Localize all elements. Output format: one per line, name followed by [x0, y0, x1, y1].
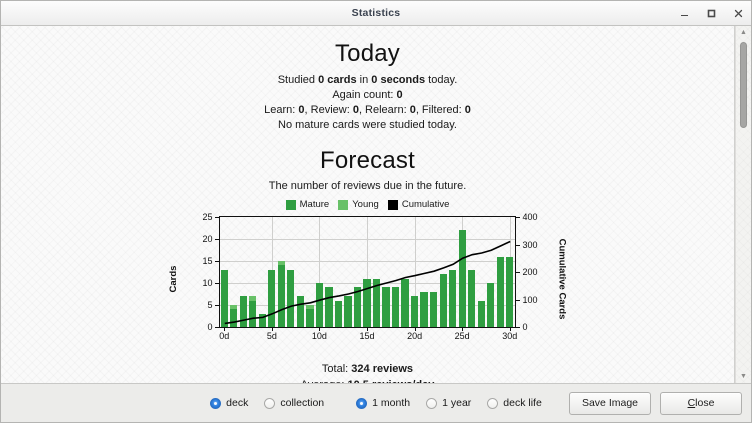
radio-dot-icon[interactable]: [356, 398, 367, 409]
cumulative-polyline: [224, 241, 509, 323]
y-tick-label: 0: [168, 322, 213, 332]
forecast-totals: Total: 324 reviews Average: 10.5 reviews…: [1, 361, 734, 383]
x-tick-mark: [510, 327, 511, 331]
legend-label: Cumulative: [402, 199, 450, 210]
total-label: Total:: [322, 363, 351, 375]
radio-dot-icon[interactable]: [264, 398, 275, 409]
radio-label: deck: [226, 397, 248, 409]
save-image-button[interactable]: Save Image: [569, 392, 651, 415]
today-mature-note: No mature cards were studied today.: [1, 118, 734, 133]
today-learn-label: Learn:: [264, 104, 298, 116]
legend-label: Young: [352, 199, 379, 210]
minimize-button[interactable]: [678, 7, 691, 20]
statistics-window: Statistics Today Studied 0 cards in 0 se…: [0, 0, 752, 423]
bottom-toolbar: deckcollection 1 month1 yeardeck life Sa…: [1, 383, 751, 422]
window-title: Statistics: [352, 7, 401, 19]
close-dialog-button[interactable]: Close: [660, 392, 742, 415]
radio-scope-deck[interactable]: deck: [210, 397, 248, 409]
x-tick-mark: [415, 327, 416, 331]
y2-tick-label: 400: [518, 212, 552, 222]
legend-swatch-young-icon: [338, 200, 348, 210]
legend-item-cumulative: Cumulative: [388, 199, 450, 210]
y-tick-mark: [215, 217, 219, 218]
total-value: 324 reviews: [351, 363, 413, 375]
radio-range-1-year[interactable]: 1 year: [426, 397, 471, 409]
range-radio-group: 1 month1 yeardeck life: [356, 397, 542, 409]
y2-tick-label: 200: [518, 267, 552, 277]
today-studied-prefix: Studied: [278, 74, 318, 86]
y-tick-mark: [215, 327, 219, 328]
y-tick-label: 25: [168, 212, 213, 222]
radio-dot-icon[interactable]: [487, 398, 498, 409]
y2-tick-mark: [516, 245, 520, 246]
today-again-value: 0: [397, 89, 403, 101]
y2-tick-mark: [516, 217, 520, 218]
y-tick-mark: [215, 261, 219, 262]
close-button[interactable]: [732, 7, 745, 20]
y-tick-label: 10: [168, 278, 213, 288]
y2-axis-title: Cumulative Cards: [557, 239, 568, 320]
today-filtered-label: , Filtered:: [416, 104, 465, 116]
scope-radio-group: deckcollection: [210, 397, 324, 409]
close-rest: lose: [695, 397, 714, 409]
x-tick-mark: [367, 327, 368, 331]
today-filtered-value: 0: [465, 104, 471, 116]
radio-label: deck life: [503, 397, 542, 409]
action-buttons: Save Image Close: [569, 392, 742, 415]
y2-tick-mark: [516, 300, 520, 301]
x-tick-label: 5d: [267, 331, 277, 341]
today-section: Today Studied 0 cards in 0 seconds today…: [1, 40, 734, 133]
today-studied-line: Studied 0 cards in 0 seconds today.: [1, 73, 734, 88]
scroll-up-icon[interactable]: ▲: [736, 26, 751, 39]
today-cards-count: 0 cards: [318, 74, 357, 86]
close-accel: C: [688, 397, 696, 409]
radio-dot-icon[interactable]: [210, 398, 221, 409]
radio-label: collection: [280, 397, 324, 409]
today-review-label: , Review:: [305, 104, 353, 116]
y-tick-mark: [215, 283, 219, 284]
today-studied-mid: in: [357, 74, 372, 86]
legend-swatch-cumulative-icon: [388, 200, 398, 210]
legend-item-mature: Mature: [286, 199, 330, 210]
y2-tick-label: 0: [518, 322, 552, 332]
y-tick-label: 20: [168, 234, 213, 244]
vertical-scrollbar[interactable]: ▲ ▼: [735, 26, 751, 383]
total-line: Total: 324 reviews: [1, 361, 734, 377]
x-tick-mark: [319, 327, 320, 331]
radio-dot-icon[interactable]: [426, 398, 437, 409]
scrollbar-thumb[interactable]: [740, 42, 747, 128]
forecast-heading: Forecast: [1, 147, 734, 175]
legend-item-young: Young: [338, 199, 379, 210]
y-tick-mark: [215, 305, 219, 306]
legend-label: Mature: [300, 199, 330, 210]
today-relearn-label: , Relearn:: [359, 104, 410, 116]
x-tick-label: 20d: [407, 331, 422, 341]
forecast-description: The number of reviews due in the future.: [1, 180, 734, 192]
today-breakdown-line: Learn: 0, Review: 0, Relearn: 0, Filtere…: [1, 103, 734, 118]
legend-swatch-mature-icon: [286, 200, 296, 210]
forecast-section: Forecast The number of reviews due in th…: [1, 147, 734, 383]
x-tick-mark: [462, 327, 463, 331]
y-tick-label: 15: [168, 256, 213, 266]
x-tick-mark: [272, 327, 273, 331]
today-heading: Today: [1, 40, 734, 68]
y-tick-mark: [215, 239, 219, 240]
stats-page: Today Studied 0 cards in 0 seconds today…: [1, 26, 734, 383]
y-tick-label: 5: [168, 300, 213, 310]
y2-tick-label: 100: [518, 295, 552, 305]
today-time-spent: 0 seconds: [371, 74, 425, 86]
chart-legend: MatureYoungCumulative: [1, 199, 734, 210]
forecast-chart: Cards Cumulative Cards 05101520250100200…: [168, 212, 568, 346]
x-tick-label: 0d: [219, 331, 229, 341]
y2-tick-mark: [516, 272, 520, 273]
x-tick-label: 15d: [359, 331, 374, 341]
x-tick-mark: [224, 327, 225, 331]
radio-label: 1 year: [442, 397, 471, 409]
today-again-label: Again count:: [332, 89, 396, 101]
y2-tick-mark: [516, 327, 520, 328]
radio-scope-collection[interactable]: collection: [264, 397, 324, 409]
content-wrapper: Today Studied 0 cards in 0 seconds today…: [1, 26, 751, 383]
today-again-line: Again count: 0: [1, 88, 734, 103]
y2-tick-label: 300: [518, 240, 552, 250]
maximize-button[interactable]: [705, 7, 718, 20]
stats-scroll-area: Today Studied 0 cards in 0 seconds today…: [1, 26, 735, 383]
window-controls: [678, 1, 745, 25]
scroll-down-icon[interactable]: ▼: [736, 370, 751, 383]
cumulative-line: [220, 217, 515, 327]
radio-label: 1 month: [372, 397, 410, 409]
today-studied-suffix: today.: [425, 74, 457, 86]
x-tick-label: 25d: [455, 331, 470, 341]
x-tick-label: 30d: [502, 331, 517, 341]
title-bar: Statistics: [1, 1, 751, 26]
x-tick-label: 10d: [312, 331, 327, 341]
radio-range-1-month[interactable]: 1 month: [356, 397, 410, 409]
radio-range-deck-life[interactable]: deck life: [487, 397, 542, 409]
